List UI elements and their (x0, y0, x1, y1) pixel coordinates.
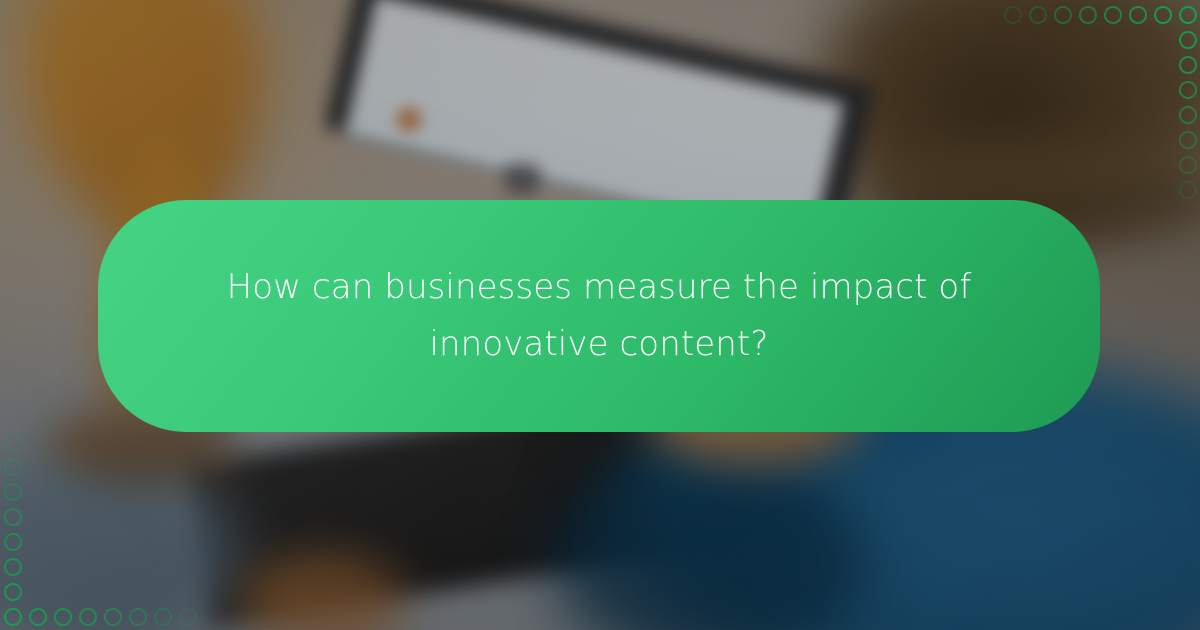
quote-card-canvas: How can businesses measure the impact of… (0, 0, 1200, 630)
quote-card: How can businesses measure the impact of… (98, 200, 1100, 432)
quote-text: How can businesses measure the impact of… (219, 259, 979, 373)
